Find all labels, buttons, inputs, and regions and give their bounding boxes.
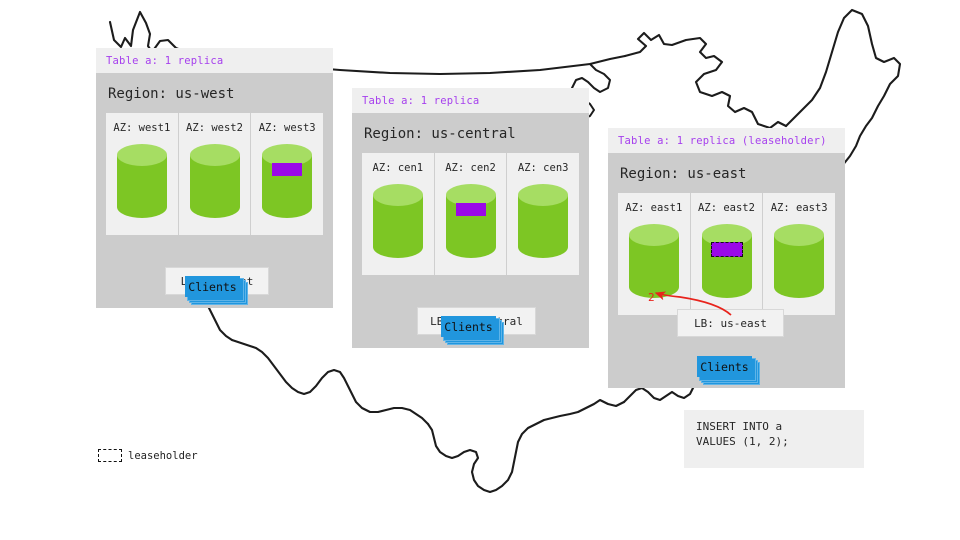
clients-button-us-central[interactable]: Clients xyxy=(441,316,503,348)
az-cell-cen2[interactable]: AZ: cen2 xyxy=(434,153,507,275)
node-cylinder-east3[interactable] xyxy=(772,223,826,299)
region-title-us-central: Region: us-central xyxy=(362,113,579,153)
az-cell-east2[interactable]: AZ: east2 xyxy=(690,193,763,315)
node-cylinder-west1[interactable] xyxy=(115,143,169,219)
replica-badge-cen2 xyxy=(456,203,486,216)
diagram-canvas: Table a: 1 replica Region: us-west AZ: w… xyxy=(0,0,960,540)
az-cell-east3[interactable]: AZ: east3 xyxy=(762,193,835,315)
az-label-east2: AZ: east2 xyxy=(698,202,755,214)
clients-button-label-us-east[interactable]: Clients xyxy=(697,356,752,377)
clients-button-us-west[interactable]: Clients xyxy=(185,276,247,308)
region-header-us-west: Table a: 1 replica xyxy=(96,48,333,73)
clients-button-label-us-central[interactable]: Clients xyxy=(441,316,496,337)
clients-button-label-us-west[interactable]: Clients xyxy=(185,276,240,297)
clients-button-us-east[interactable]: Clients xyxy=(697,356,759,388)
az-cell-cen3[interactable]: AZ: cen3 xyxy=(506,153,579,275)
node-cylinder-east2[interactable] xyxy=(700,223,754,299)
az-label-east1: AZ: east1 xyxy=(625,202,682,214)
az-row-us-central: AZ: cen1 AZ: cen2 xyxy=(362,153,579,275)
az-label-west3: AZ: west3 xyxy=(259,122,316,134)
node-cylinder-cen2[interactable] xyxy=(444,183,498,259)
legend: leaseholder xyxy=(98,449,198,462)
region-header-us-east: Table a: 1 replica (leaseholder) xyxy=(608,128,845,153)
node-cylinder-east1[interactable] xyxy=(627,223,681,299)
node-cylinder-cen1[interactable] xyxy=(371,183,425,259)
region-panel-us-west: Table a: 1 replica Region: us-west AZ: w… xyxy=(96,48,333,308)
node-cylinder-cen3[interactable] xyxy=(516,183,570,259)
az-label-west2: AZ: west2 xyxy=(186,122,243,134)
az-label-west1: AZ: west1 xyxy=(113,122,170,134)
region-body-us-east: Region: us-east AZ: east1 AZ: east2 xyxy=(608,153,845,388)
region-header-us-central: Table a: 1 replica xyxy=(352,88,589,113)
region-panel-us-central: Table a: 1 replica Region: us-central AZ… xyxy=(352,88,589,348)
annotation-step-number: 2 xyxy=(648,291,655,304)
az-row-us-west: AZ: west1 AZ: west2 xyxy=(106,113,323,235)
az-label-cen3: AZ: cen3 xyxy=(518,162,569,174)
legend-label: leaseholder xyxy=(128,450,198,462)
region-panel-us-east: Table a: 1 replica (leaseholder) Region:… xyxy=(608,128,845,388)
az-label-cen2: AZ: cen2 xyxy=(445,162,496,174)
load-balancer-us-east[interactable]: LB: us-east xyxy=(677,309,784,337)
dashed-rect-icon xyxy=(98,449,122,462)
replica-badge-west3 xyxy=(272,163,302,176)
leaseholder-badge-east2 xyxy=(711,242,743,257)
az-label-east3: AZ: east3 xyxy=(771,202,828,214)
az-cell-west2[interactable]: AZ: west2 xyxy=(178,113,251,235)
sql-statement-box: INSERT INTO a VALUES (1, 2); xyxy=(684,410,864,468)
az-cell-cen1[interactable]: AZ: cen1 xyxy=(362,153,434,275)
region-title-us-east: Region: us-east xyxy=(618,153,835,193)
az-label-cen1: AZ: cen1 xyxy=(373,162,424,174)
node-cylinder-west2[interactable] xyxy=(188,143,242,219)
az-cell-west3[interactable]: AZ: west3 xyxy=(250,113,323,235)
region-title-us-west: Region: us-west xyxy=(106,73,323,113)
node-cylinder-west3[interactable] xyxy=(260,143,314,219)
az-cell-west1[interactable]: AZ: west1 xyxy=(106,113,178,235)
